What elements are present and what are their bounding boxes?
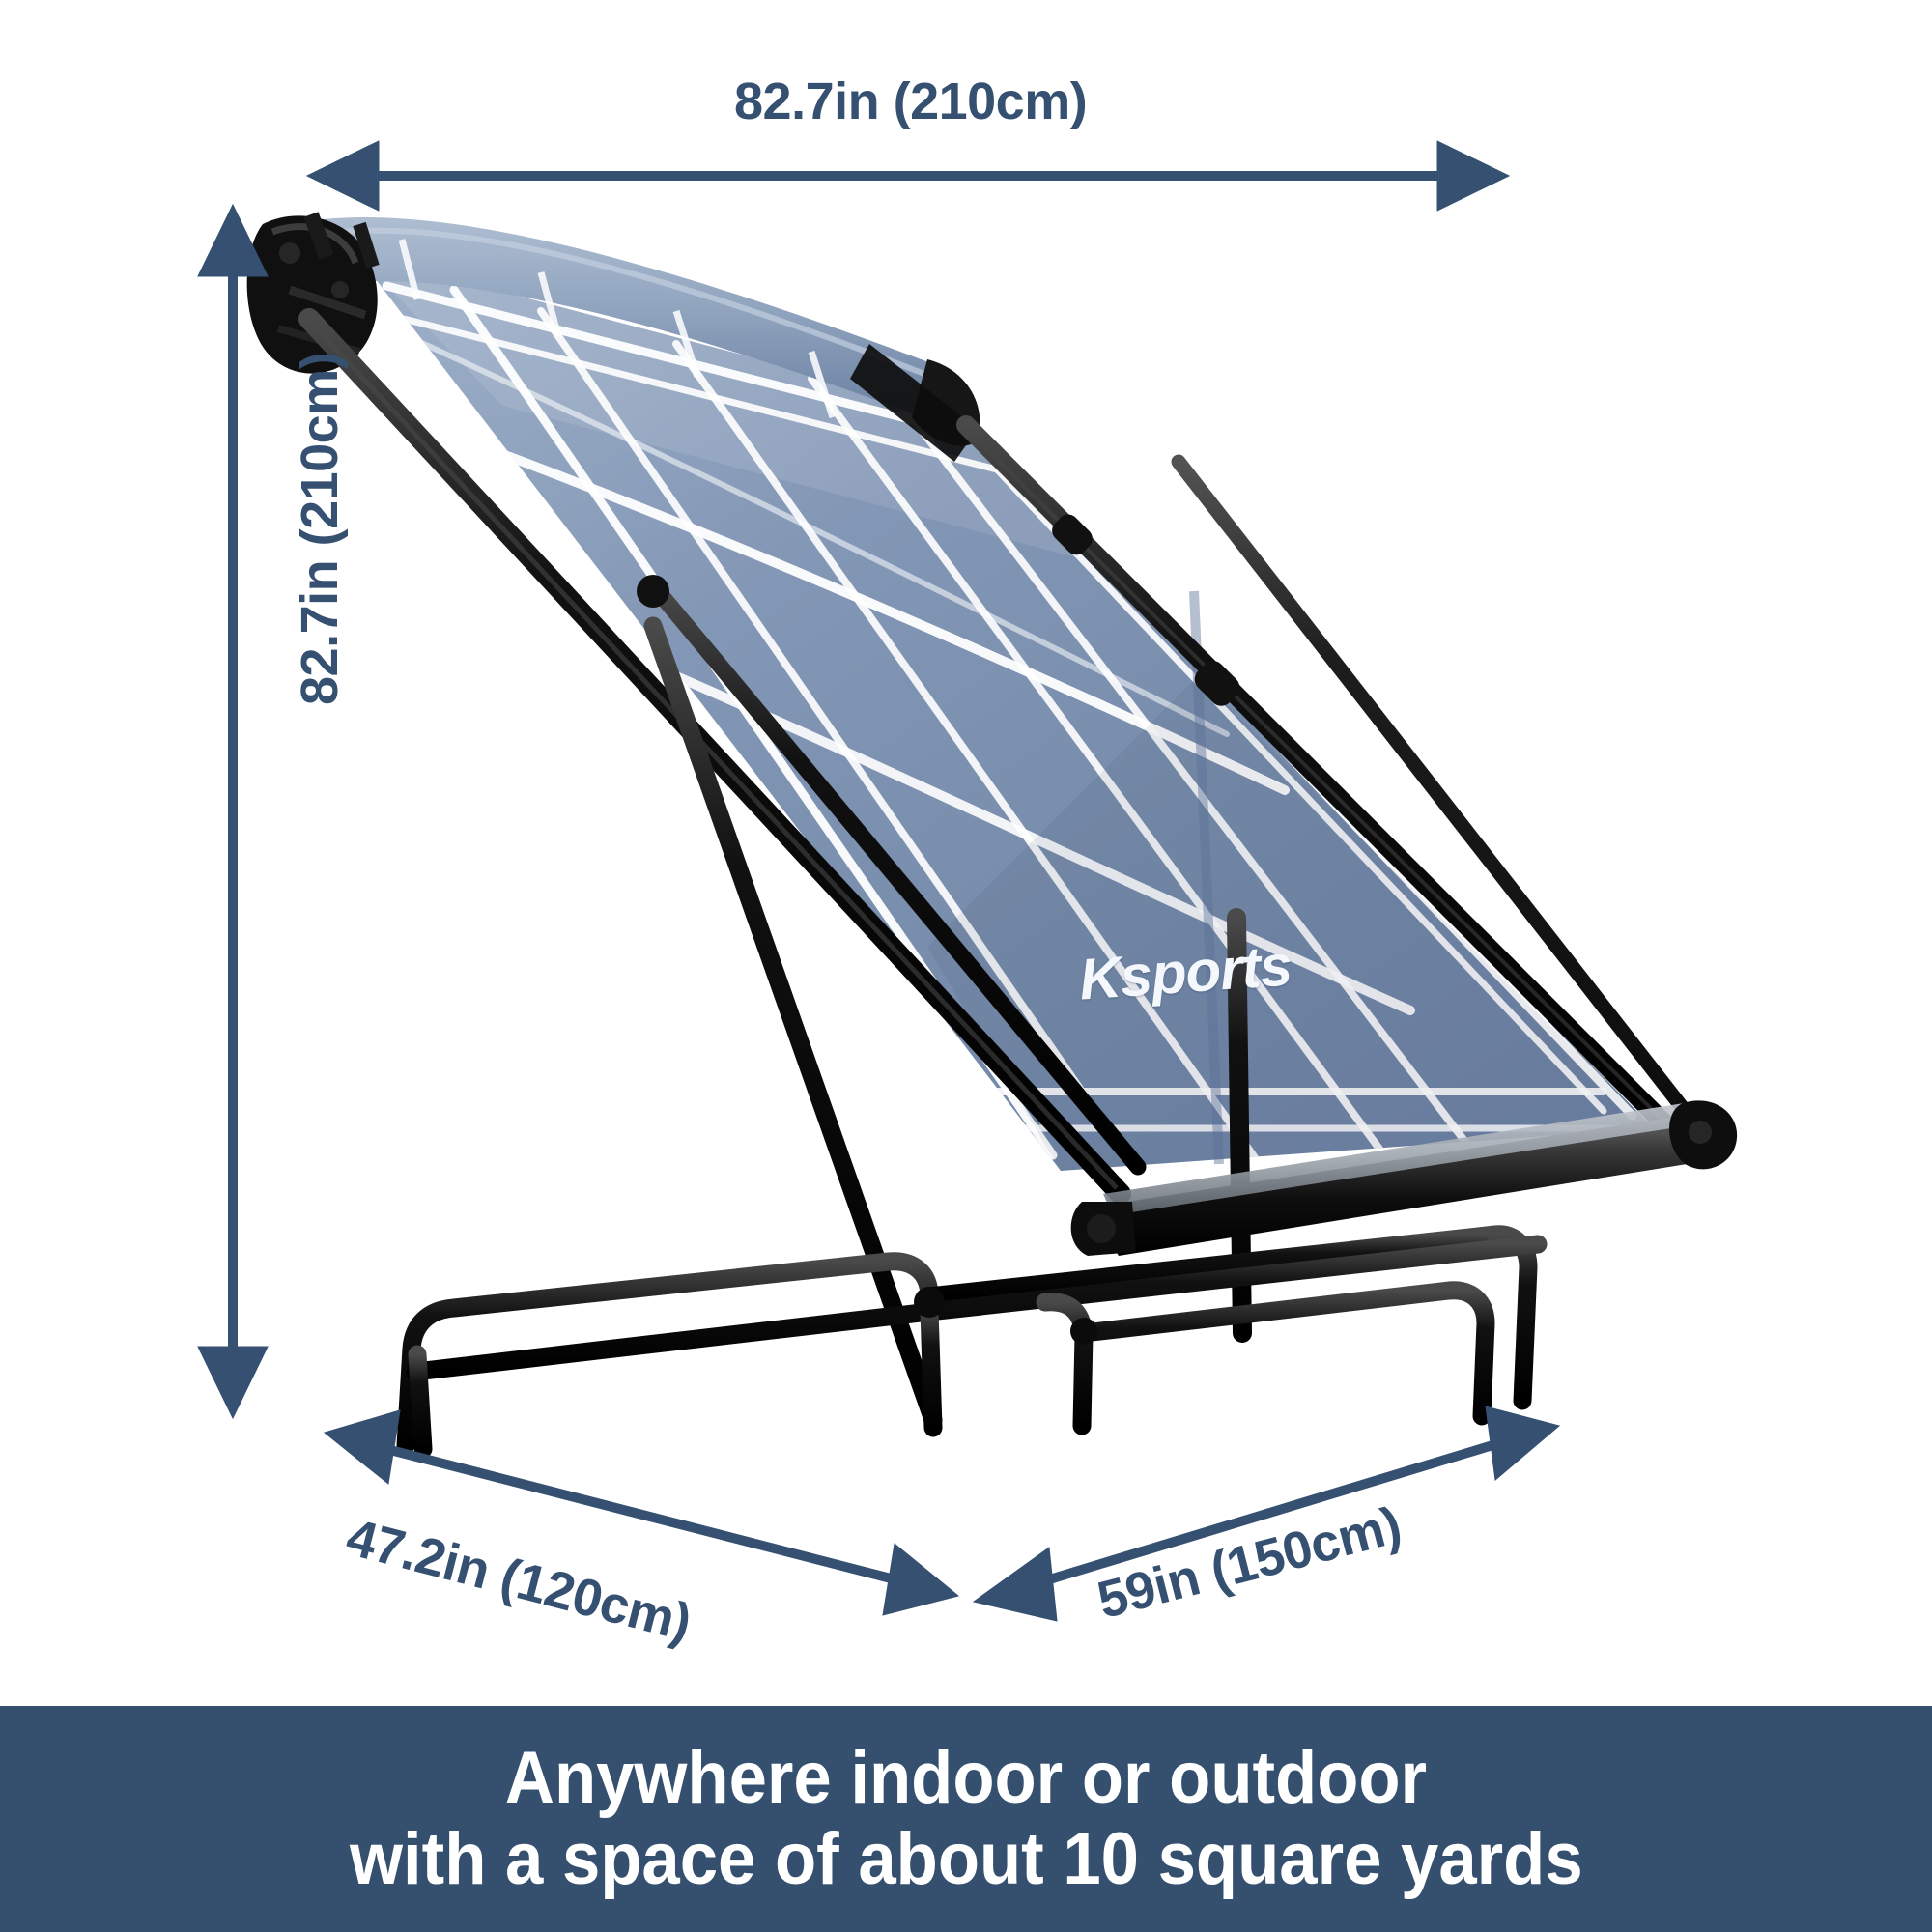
caption-line-1: Anywhere indoor or outdoor <box>505 1741 1427 1816</box>
product-illustration <box>0 0 1932 1932</box>
height-dimension-label: 82.7in (210cm) <box>290 353 350 705</box>
width-dimension-label: 82.7in (210cm) <box>734 71 1087 131</box>
top-bracket-hub <box>247 214 378 374</box>
base-frame <box>406 1235 1538 1449</box>
caption-banner: Anywhere indoor or outdoor with a space … <box>0 1706 1932 1932</box>
caption-line-2: with a space of about 10 square yards <box>350 1822 1583 1897</box>
dimension-diagram: Ksports 82.7in (210cm) 82.7in (21 <box>0 0 1932 1932</box>
rebounder-net-panel <box>355 253 1654 1171</box>
